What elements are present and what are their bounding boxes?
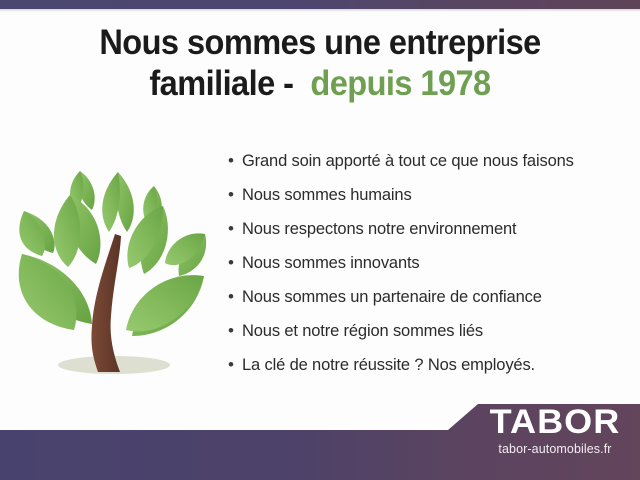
- top-accent-bar-shadow: [0, 9, 640, 12]
- page-title-line-2-black: familiale -: [149, 64, 310, 103]
- list-item: • La clé de notre réussite ? Nos employé…: [228, 354, 628, 388]
- brand-logo-wordmark: TABOR: [465, 404, 640, 440]
- bullet-marker-icon: •: [228, 354, 242, 376]
- list-item-label: Nous sommes innovants: [242, 252, 420, 274]
- page-title-line-2: familiale - depuis 1978: [22, 63, 617, 104]
- list-item: • Nous sommes humains: [228, 184, 628, 218]
- list-item-label: Nous sommes humains: [242, 184, 412, 206]
- bullet-marker-icon: •: [228, 218, 242, 240]
- bullet-marker-icon: •: [228, 252, 242, 274]
- tree-illustration: [8, 158, 222, 384]
- bullet-marker-icon: •: [228, 320, 242, 342]
- list-item: • Nous respectons notre environnement: [228, 218, 628, 252]
- brand-logo-url: tabor-automobiles.fr: [470, 441, 640, 457]
- list-item: • Nous sommes un partenaire de confiance: [228, 286, 628, 320]
- list-item-label: Nous respectons notre environnement: [242, 218, 517, 240]
- brand-logo[interactable]: TABOR tabor-automobiles.fr: [470, 404, 640, 466]
- bullet-marker-icon: •: [228, 286, 242, 308]
- page-title-accent: depuis 1978: [310, 64, 490, 103]
- slide-canvas: Nous sommes une entreprise familiale - d…: [0, 0, 640, 480]
- bullet-marker-icon: •: [228, 184, 242, 206]
- benefits-list: • Grand soin apporté à tout ce que nous …: [228, 150, 628, 388]
- list-item: • Nous et notre région sommes liés: [228, 320, 628, 354]
- list-item-label: La clé de notre réussite ? Nos employés.: [242, 354, 535, 376]
- list-item-label: Nous sommes un partenaire de confiance: [242, 286, 542, 308]
- list-item: • Grand soin apporté à tout ce que nous …: [228, 150, 628, 184]
- list-item: • Nous sommes innovants: [228, 252, 628, 286]
- top-accent-bar: [0, 0, 640, 9]
- page-title: Nous sommes une entreprise familiale - d…: [22, 22, 617, 105]
- bullet-marker-icon: •: [228, 150, 242, 172]
- list-item-label: Nous et notre région sommes liés: [242, 320, 483, 342]
- page-title-line-1: Nous sommes une entreprise: [22, 22, 617, 63]
- list-item-label: Grand soin apporté à tout ce que nous fa…: [242, 150, 574, 172]
